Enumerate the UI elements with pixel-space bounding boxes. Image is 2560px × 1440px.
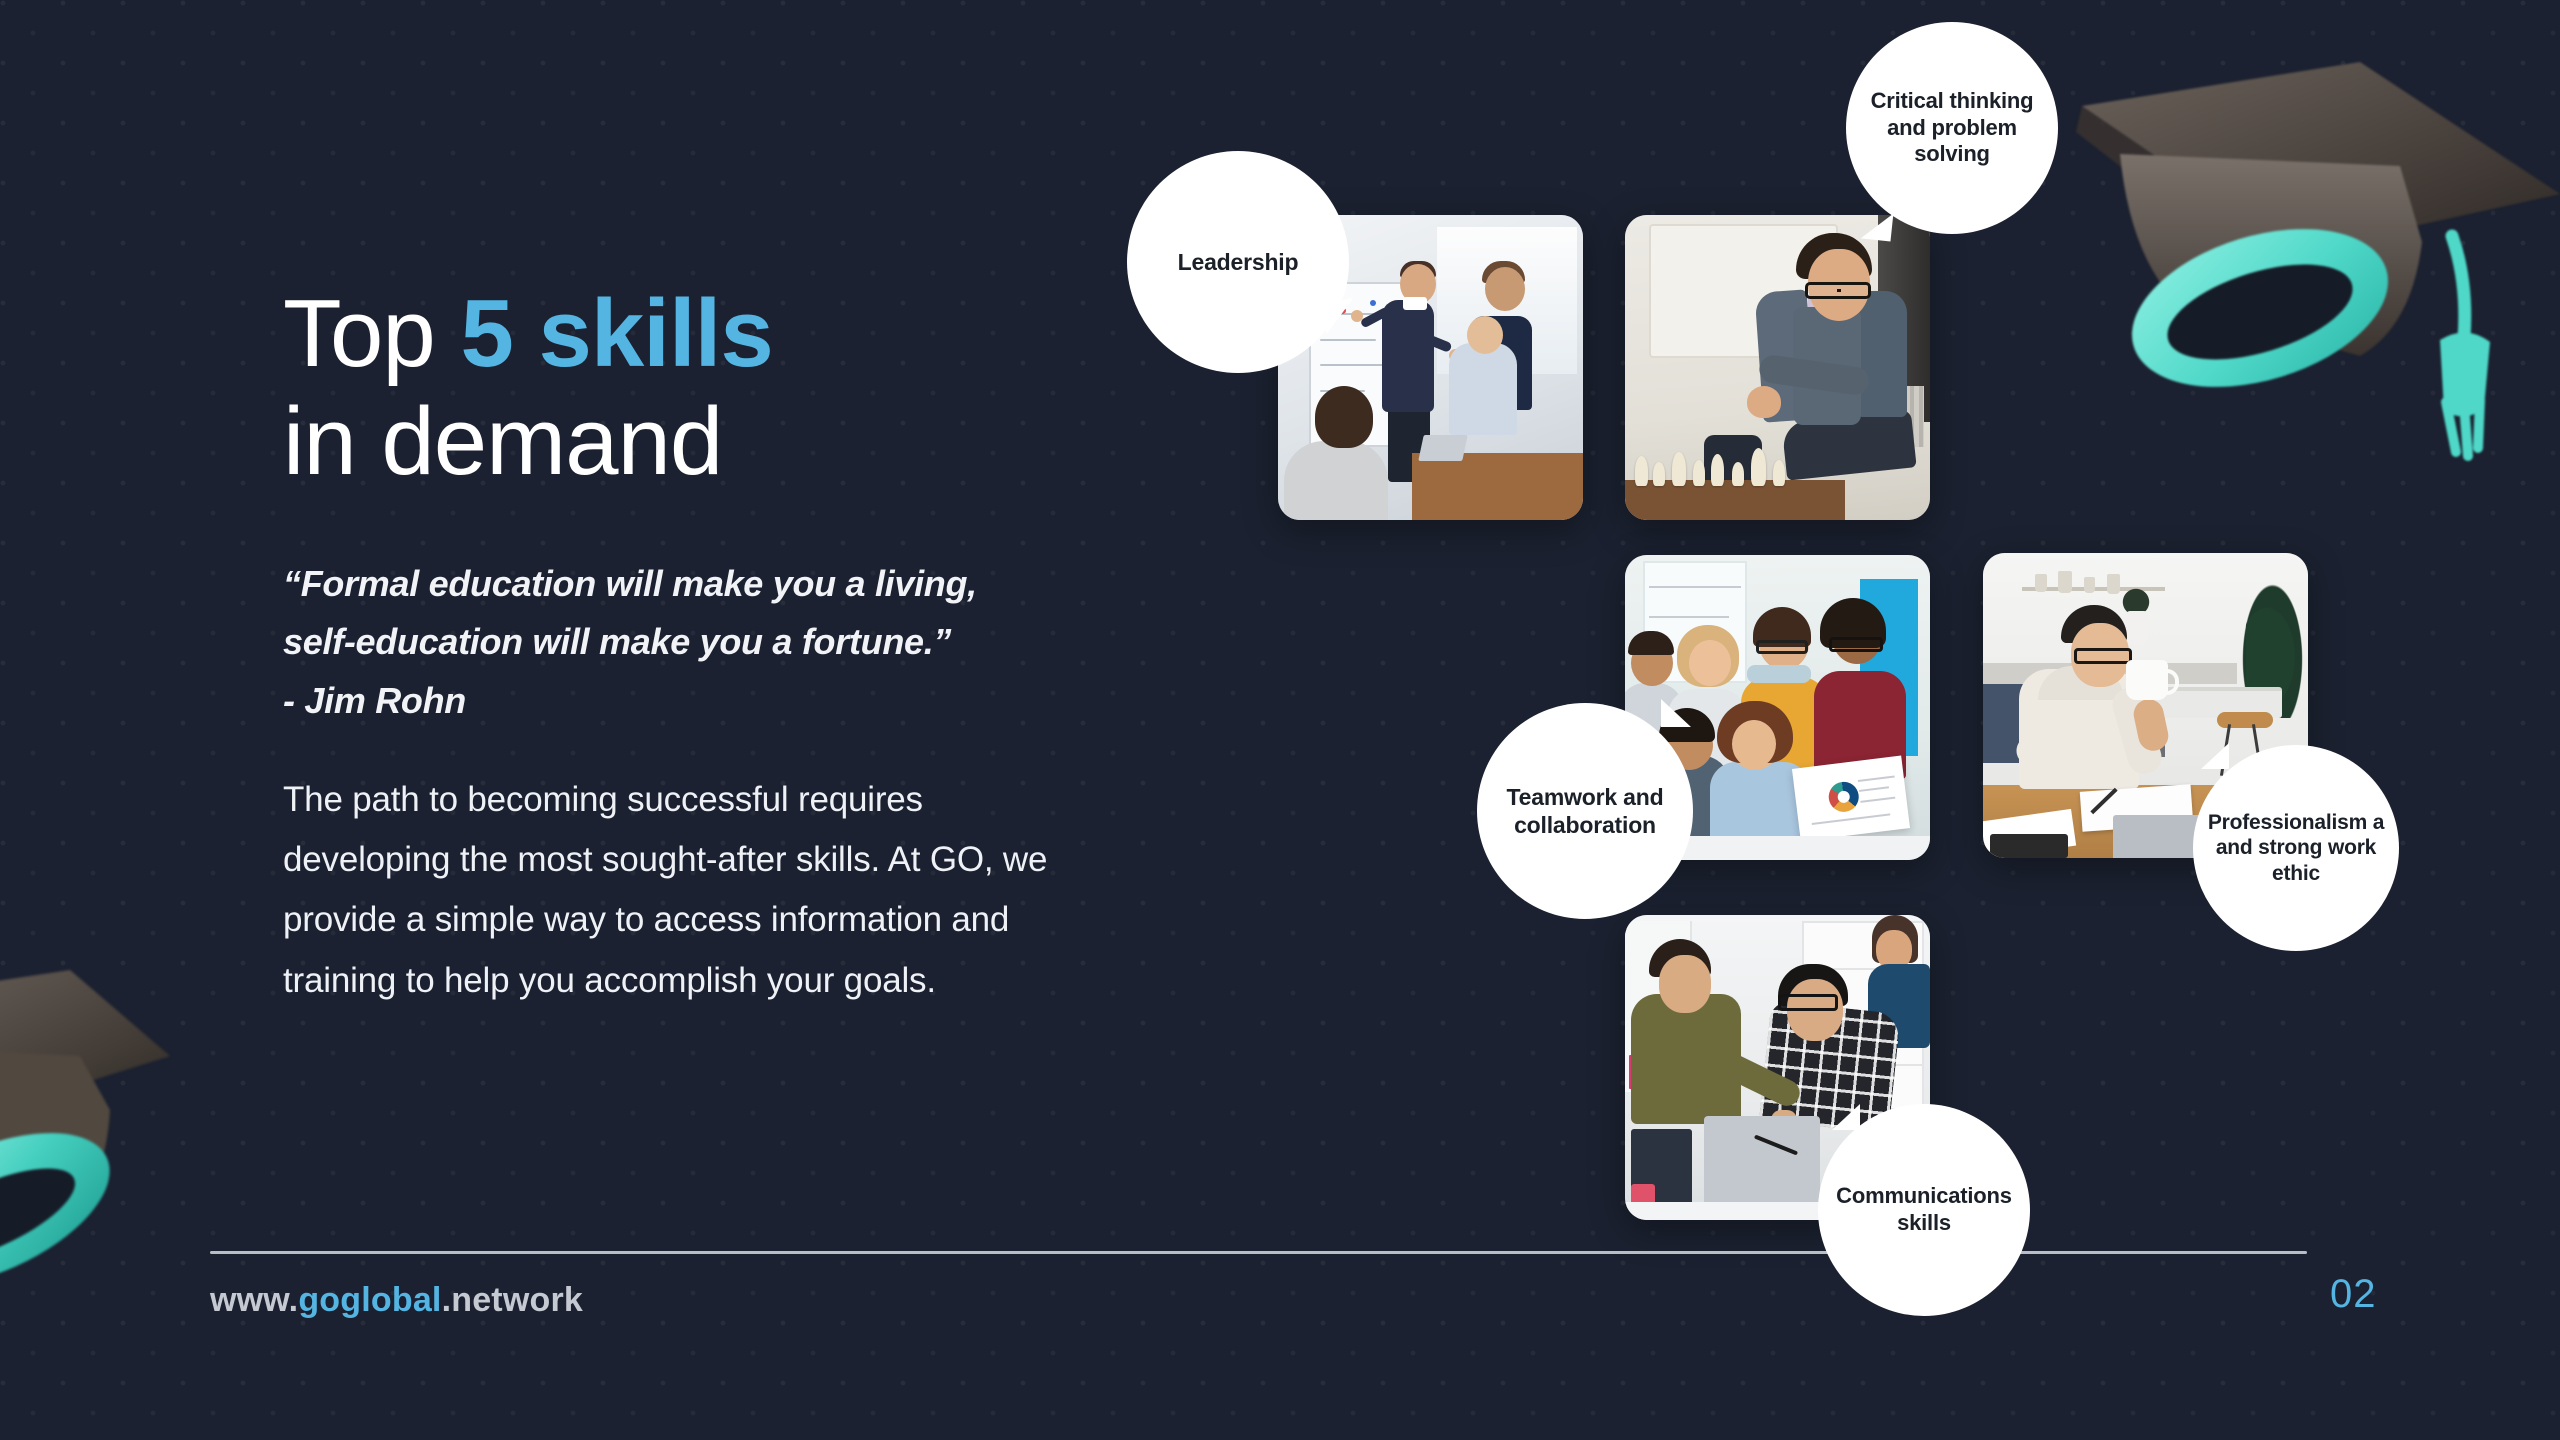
skill-bubble-teamwork[interactable]: Teamwork and collaboration	[1477, 703, 1693, 919]
title-plain-text: Top	[283, 280, 460, 387]
skill-bubble-communications[interactable]: Communications skills	[1818, 1104, 2030, 1316]
skill-bubble-professionalism[interactable]: Professionalism a and strong work ethic	[2193, 745, 2399, 951]
skill-bubble-label: Critical thinking and problem solving	[1846, 88, 2058, 168]
graduation-cap-icon	[2060, 46, 2560, 466]
url-prefix: www.	[210, 1281, 298, 1319]
skill-bubble-label: Teamwork and collaboration	[1477, 783, 1693, 839]
title-accent-text: 5 skills	[460, 280, 772, 387]
body-paragraph: The path to becoming successful requires…	[283, 770, 1083, 1011]
bubble-tail-icon	[1832, 1104, 1860, 1130]
left-content-column: Top 5 skills in demand “Formal education…	[283, 280, 1113, 1011]
title-line-1: Top 5 skills	[283, 280, 1113, 388]
page-number: 02	[2330, 1272, 2377, 1317]
skill-bubble-critical-thinking[interactable]: Critical thinking and problem solving	[1846, 22, 2058, 234]
skill-bubble-leadership[interactable]: Leadership	[1127, 151, 1349, 373]
title-line-2: in demand	[283, 388, 1113, 496]
bubble-tail-icon	[2201, 743, 2229, 769]
quote-line-2: self-education will make you a fortune.”	[283, 613, 1113, 671]
graduation-cap-icon	[0, 960, 300, 1320]
skill-bubble-label: Communications skills	[1818, 1183, 2030, 1237]
url-suffix: .network	[442, 1281, 583, 1319]
bubble-tail-icon	[1661, 699, 1691, 727]
quote-attribution: - Jim Rohn	[283, 672, 1113, 730]
footer-website-url[interactable]: www.goglobal.network	[210, 1281, 583, 1320]
photo-critical-thinking	[1625, 215, 1930, 520]
url-brand: goglobal	[298, 1281, 441, 1319]
slide-canvas: Top 5 skills in demand “Formal education…	[0, 0, 2560, 1440]
skill-bubble-label: Leadership	[1164, 248, 1313, 276]
page-title: Top 5 skills in demand	[283, 280, 1113, 495]
quote-line-1: “Formal education will make you a living…	[283, 555, 1113, 613]
quote-block: “Formal education will make you a living…	[283, 555, 1113, 730]
skill-bubble-label: Professionalism a and strong work ethic	[2193, 810, 2399, 887]
bubble-tail-icon	[1861, 211, 1894, 242]
